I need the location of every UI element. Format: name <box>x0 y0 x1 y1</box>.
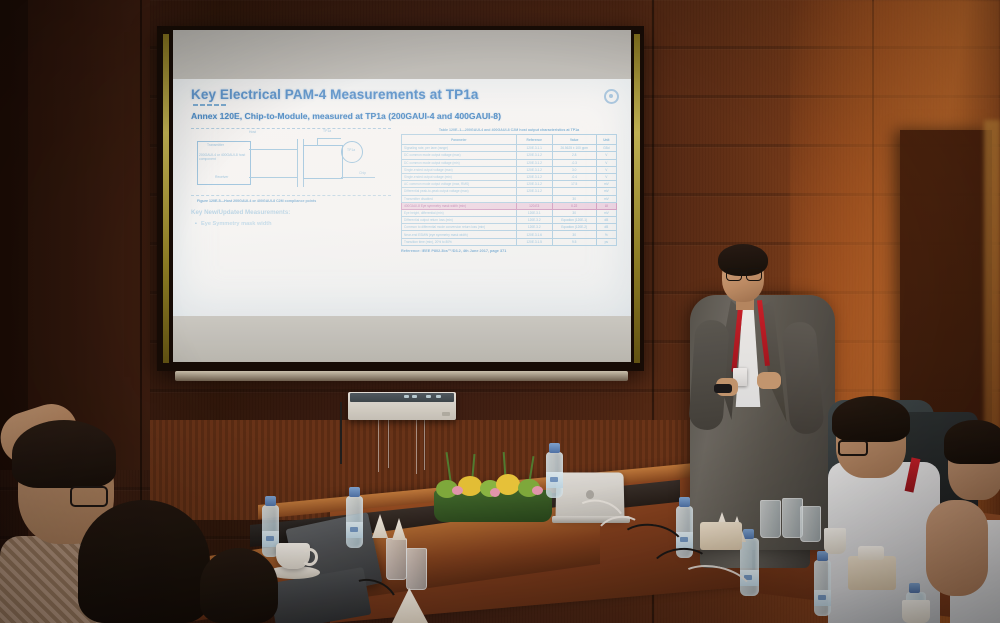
wall-column-left <box>0 0 28 623</box>
diagram-module-block <box>303 145 343 179</box>
flower-pink-3 <box>532 486 543 495</box>
table-cell: ps <box>596 238 616 245</box>
table-cell: V <box>596 159 616 166</box>
table-header-row: ParameterReferenceValueUnit <box>402 135 617 145</box>
diagram-label-receiver: Receiver <box>215 175 228 179</box>
table-row: Common to differential mode conversion r… <box>402 224 617 231</box>
screen-bottom-bar <box>175 371 628 381</box>
table-cell: Differential peak-to-peak output voltage… <box>402 188 517 195</box>
table-cell: V <box>596 152 616 159</box>
diagram-label-tp1a: TP1a <box>323 129 331 133</box>
diagram-label-probe: TP1a <box>347 148 355 152</box>
diagram-line-rx <box>249 177 297 178</box>
table-cell: GBd <box>596 145 616 152</box>
attendee-left-hair <box>12 420 116 488</box>
diagram-line-tx <box>249 149 297 150</box>
eyeglasses-icon-right <box>746 268 762 281</box>
table-col-header: Value <box>552 135 596 145</box>
presenter-hand-right <box>757 372 781 389</box>
company-logo-icon <box>604 89 619 104</box>
table-cell: DC common mode output voltage (min) <box>402 159 517 166</box>
table-cell: V <box>596 173 616 180</box>
table-cell: 30 <box>552 195 596 202</box>
bullets-heading: Key New/Updated Measurements: <box>191 209 391 216</box>
doorway-light-edge <box>984 120 1000 450</box>
table-cell: Transition time (min), 20% to 80% <box>402 238 517 245</box>
drinking-glass-5[interactable] <box>800 506 821 542</box>
slide-right-column: Table 120E–1—200GAUI-4 and 400GAUI-8 C2M… <box>401 128 617 253</box>
attendee-fg-right-head <box>200 548 278 623</box>
av-led-2 <box>412 395 417 398</box>
table-cell: UI <box>596 202 616 209</box>
diagram-label-output: Chip <box>359 171 366 175</box>
table-cell: 120E.3.1.6 <box>516 231 552 238</box>
table-cell: AC common mode output voltage (max, RMS) <box>402 181 517 188</box>
projector-letterbox-top <box>173 30 631 79</box>
bullet-item: ▪ Eye Symmetry mask width <box>195 221 391 227</box>
table-cell: dB <box>596 224 616 231</box>
table-row: Near-end ESMW (eye symmetry mask width)1… <box>402 231 617 238</box>
table-cell: Signaling rate, per lane (range) <box>402 145 517 152</box>
cup-handle <box>301 548 318 566</box>
table-cell: Eye height, differential (min) <box>402 209 517 216</box>
table-cell: 0.22 <box>552 202 596 209</box>
table-row: Transition time (min), 20% to 80%120E.3.… <box>402 238 617 245</box>
title-accent-rule <box>193 104 227 106</box>
table-row: DC common mode output voltage (max)120E.… <box>402 152 617 159</box>
drinking-glass-1[interactable] <box>386 538 407 580</box>
conference-room-photo: Key Electrical PAM-4 Measurements at TP1… <box>0 0 1000 623</box>
diagram-label-host: Host <box>249 130 256 134</box>
table-row: 400GAUI-8 Eye symmetry mask width (min)1… <box>402 202 617 209</box>
diagram-label-transmitter: Transmitter <box>207 143 224 147</box>
projection-screen: Key Electrical PAM-4 Measurements at TP1… <box>157 26 644 371</box>
table-cell: Near-end ESMW (eye symmetry mask width) <box>402 231 517 238</box>
av-unit-button[interactable] <box>442 412 450 416</box>
table-cell: mV <box>596 209 616 216</box>
bullet-dot-icon: ▪ <box>195 221 197 227</box>
table-cell: 30 <box>552 231 596 238</box>
diagram-line-top <box>317 138 341 139</box>
table-cell: 120E.3.1.2 <box>516 166 552 173</box>
table-cell: 2.8 <box>552 152 596 159</box>
table-cell <box>552 188 596 195</box>
attendee-far-right-hair <box>944 420 1000 464</box>
apple-logo-icon <box>586 490 594 499</box>
tissue-sheet <box>858 546 884 560</box>
table-caption: Table 120E–1—200GAUI-4 and 400GAUI-8 C2M… <box>401 128 617 132</box>
tissue-box-2[interactable] <box>700 522 742 550</box>
tissue-box-1[interactable] <box>848 556 896 590</box>
table-col-header: Parameter <box>402 135 517 145</box>
water-bottle-3[interactable] <box>546 452 563 498</box>
diagram-stub-top <box>317 138 318 146</box>
table-row: AC common mode output voltage (max, RMS)… <box>402 181 617 188</box>
table-cell: 30 <box>552 209 596 216</box>
eyeglasses-icon-left <box>726 268 742 281</box>
screen-hanging-wire-2 <box>388 418 389 468</box>
table-row: Differential peak-to-peak output voltage… <box>402 188 617 195</box>
eyeglasses-bridge <box>740 272 746 274</box>
table-col-header: Reference <box>516 135 552 145</box>
attendee-center-head <box>78 500 210 623</box>
paper-cup-2[interactable] <box>902 600 930 623</box>
table-cell: 120E.3.2 <box>516 217 552 224</box>
table-cell: 120E.3.1.1 <box>516 145 552 152</box>
slide-reference: Reference: IEEE P802.3bs™/D3.2, 4th June… <box>401 249 617 253</box>
table-row: Single-ended output voltage (min)120E.3.… <box>402 173 617 180</box>
av-led-4 <box>436 395 441 398</box>
table-cell: mV <box>596 195 616 202</box>
table-cell: 120E.3.1.2 <box>516 173 552 180</box>
screen-edge-strip-left <box>163 34 169 363</box>
table-cell: 17.5 <box>552 181 596 188</box>
screen-hanging-wire-3 <box>416 418 417 474</box>
diagram-line-out <box>341 177 375 178</box>
table-cell: 120.E3 <box>516 202 552 209</box>
bullet-item-label: Eye Symmetry mask width <box>201 221 272 227</box>
screen-hanging-wire-1 <box>378 418 379 472</box>
drinking-glass-3[interactable] <box>760 500 781 538</box>
screen-hanging-wire-4 <box>424 418 425 470</box>
diagram-probe-circle <box>341 141 363 163</box>
bottle-label-2 <box>346 522 363 538</box>
table-row: Single-ended output voltage (max)120E.3.… <box>402 166 617 173</box>
paper-cup-1[interactable] <box>824 528 846 554</box>
table-cell: -0.3 <box>552 159 596 166</box>
table-row: Signaling rate, per lane (range)120E.3.1… <box>402 145 617 152</box>
table-cell: mV <box>596 188 616 195</box>
table-cell: Equation (120E-1) <box>552 217 596 224</box>
table-cell: V <box>596 166 616 173</box>
table-cell: 9.5 <box>552 238 596 245</box>
slide-left-column: Host TP1a Transmitter 200GAUI-4 or 400GA… <box>191 128 391 253</box>
table-cell: Single-ended output voltage (min) <box>402 173 517 180</box>
compliance-point-diagram: Host TP1a Transmitter 200GAUI-4 or 400GA… <box>191 128 391 196</box>
table-cell: Equation (120E-2) <box>552 224 596 231</box>
table-row: Transmitter disabled30mV <box>402 195 617 202</box>
slide-subtitle: Annex 120E, Chip-to-Module, measured at … <box>191 111 617 121</box>
table-row: Differential output return loss (min)120… <box>402 217 617 224</box>
bottle-label-6 <box>814 590 831 606</box>
av-led-1 <box>404 395 409 398</box>
table-cell: Transmitter disabled <box>402 195 517 202</box>
screen-edge-strip-right <box>634 34 640 363</box>
table-cell: 120E.3.2 <box>516 224 552 231</box>
doorway-right <box>900 130 992 430</box>
table-row: DC common mode output voltage (min)120E.… <box>402 159 617 166</box>
screen-surface: Key Electrical PAM-4 Measurements at TP1… <box>173 30 631 362</box>
table-cell: Common to differential mode conversion r… <box>402 224 517 231</box>
table-cell: DC common mode output voltage (max) <box>402 152 517 159</box>
diagram-connector-left <box>297 139 298 187</box>
eyeglasses-icon-attendee-left <box>70 486 108 507</box>
bottle-cap-7 <box>909 583 920 593</box>
bottle-cap-1 <box>265 496 276 506</box>
projected-slide: Key Electrical PAM-4 Measurements at TP1… <box>173 79 631 316</box>
flower-pink-1 <box>452 486 463 495</box>
table-cell: 400GAUI-8 Eye symmetry mask width (min) <box>402 202 517 209</box>
attendee-right-hair <box>832 396 910 442</box>
table-cell <box>516 195 552 202</box>
drinking-glass-2[interactable] <box>406 548 427 590</box>
table-cell: 120E.3.1 <box>516 209 552 216</box>
water-bottle-2[interactable] <box>346 496 363 548</box>
flower-pink-2 <box>490 488 500 497</box>
bottle-label-3 <box>546 472 563 488</box>
bottle-cap-2 <box>349 487 360 497</box>
table-cell: 120E.3.1.2 <box>516 159 552 166</box>
av-led-3 <box>426 395 431 398</box>
table-cell: % <box>596 231 616 238</box>
table-cell: 3.0 <box>552 166 596 173</box>
presentation-clicker[interactable] <box>714 384 732 393</box>
table-cell: -0.4 <box>552 173 596 180</box>
table-cell: Differential output return loss (min) <box>402 217 517 224</box>
table-row: Eye height, differential (min)120E.3.130… <box>402 209 617 216</box>
table-cell: 120E.3.1.2 <box>516 181 552 188</box>
eyeglasses-icon-attendee-right <box>838 440 868 456</box>
slide-title: Key Electrical PAM-4 Measurements at TP1… <box>191 87 617 102</box>
table-col-header: Unit <box>596 135 616 145</box>
coffee-cup[interactable] <box>276 543 310 569</box>
attendee-far-right-arm <box>926 500 988 596</box>
table-cell: dB <box>596 217 616 224</box>
table-cell: 120E.3.1.2 <box>516 152 552 159</box>
table-cell: mV <box>596 181 616 188</box>
diagram-label-block: 200GAUI-4 or 400GAUI-8 host component <box>199 153 247 162</box>
table-cell: 120E.3.1.2 <box>516 188 552 195</box>
bottle-cap-5 <box>743 529 754 539</box>
flower-centerpiece <box>432 452 554 518</box>
table-cell: 120E.3.1.5 <box>516 238 552 245</box>
av-controller-unit[interactable] <box>348 392 456 420</box>
spec-table: ParameterReferenceValueUnit Signaling ra… <box>401 134 617 246</box>
water-bottle-6[interactable] <box>814 560 831 616</box>
av-cable <box>340 402 342 464</box>
table-cell: Single-ended output voltage (max) <box>402 166 517 173</box>
table-cell: 26.5625 ± 100 ppm <box>552 145 596 152</box>
projector-letterbox-bottom <box>173 316 631 362</box>
bottle-cap-3 <box>549 443 560 453</box>
figure-caption: Figure 120E-5—Host 200GAUI-4 or 400GAUI-… <box>197 199 391 203</box>
